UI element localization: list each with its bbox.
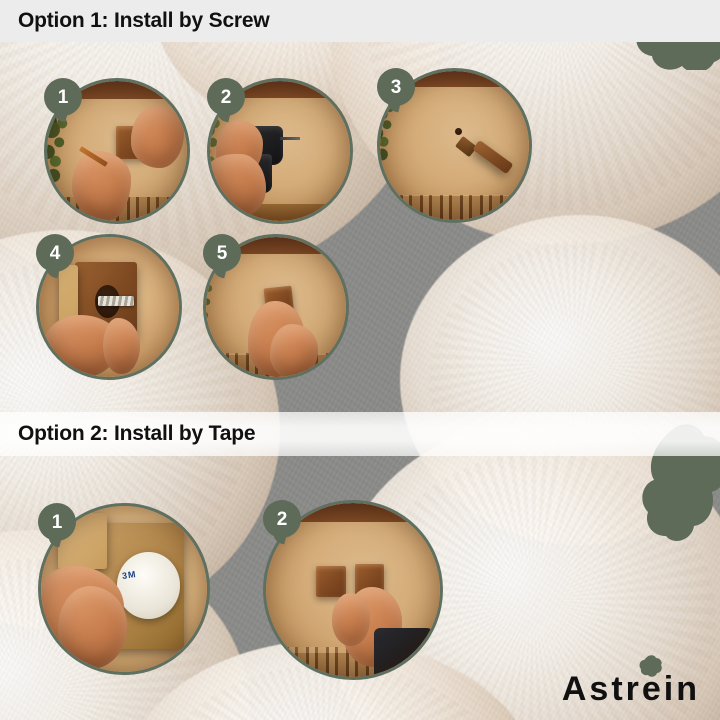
step-number-text: 4 [50,244,61,263]
step-badge-tape-2: 2 [263,500,301,538]
step-badge-screw-2: 2 [207,78,245,116]
step-number-text: 1 [52,513,63,532]
step-number-text: 3 [391,78,402,97]
step-number-text: 2 [277,510,288,529]
section-title-bar-option-2: Option 2: Install by Tape [0,412,720,456]
step-number-text: 2 [221,88,232,107]
step-badge-screw-5: 5 [203,234,241,272]
step-badge-screw-1: 1 [44,78,82,116]
step-circle-screw-2[interactable]: 2 [207,78,353,224]
step-circle-tape-1[interactable]: 3M 1 [38,503,210,675]
section-title-option-1: Option 1: Install by Screw [18,9,270,33]
step-number-text: 1 [58,88,69,107]
step-badge-screw-3: 3 [377,68,415,106]
step-circle-tape-2[interactable]: 2 [263,500,443,680]
step-circle-screw-1[interactable]: 1 [44,78,190,224]
step-badge-screw-4: 4 [36,234,74,272]
step-circle-screw-3[interactable]: 3 [377,68,532,223]
section-title-option-2: Option 2: Install by Tape [18,422,255,446]
brand-logo: Astrein [562,672,700,706]
section-title-bar-option-1: Option 1: Install by Screw [0,0,720,42]
infographic-canvas: Option 1: Install by Screw [0,0,720,720]
step-badge-tape-1: 1 [38,503,76,541]
step-circle-screw-4[interactable]: 4 [36,234,182,380]
brand-name: Astrein [562,672,700,706]
step-circle-screw-5[interactable]: 5 [203,234,349,380]
step-number-text: 5 [217,244,228,263]
leaf-blob-icon [638,655,664,679]
